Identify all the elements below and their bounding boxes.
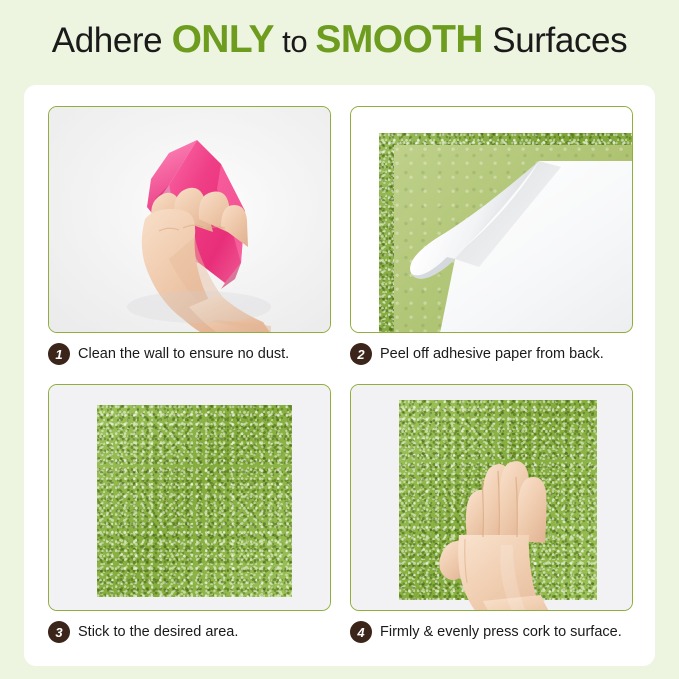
step-2-panel <box>350 106 633 333</box>
page-title: Adhere ONLY to SMOOTH Surfaces <box>0 18 679 64</box>
title-part-adhere: Adhere <box>52 21 172 60</box>
little-finger-4 <box>517 477 547 543</box>
cork-square-3 <box>97 405 292 597</box>
hand-wiping-wall-illustration <box>49 107 331 333</box>
steps-grid: 1 Clean the wall to ensure no dust. <box>24 106 655 654</box>
step-3-badge: 3 <box>48 621 70 643</box>
step-1: 1 Clean the wall to ensure no dust. <box>48 106 333 366</box>
step-3: 3 Stick to the desired area. <box>48 384 333 644</box>
title-part-surfaces: Surfaces <box>483 21 627 60</box>
step-3-panel <box>48 384 331 611</box>
step-1-caption: 1 Clean the wall to ensure no dust. <box>48 342 333 366</box>
step-1-badge: 1 <box>48 343 70 365</box>
step-1-caption-text: Clean the wall to ensure no dust. <box>78 346 289 362</box>
peeling-white-paper-illustration <box>351 107 633 333</box>
step-4-caption-text: Firmly & evenly press cork to surface. <box>380 624 622 640</box>
pressing-hand-illustration <box>351 385 633 611</box>
step-4-panel <box>350 384 633 611</box>
step-2-caption: 2 Peel off adhesive paper from back. <box>350 342 635 366</box>
step-4: 4 Firmly & evenly press cork to surface. <box>350 384 635 644</box>
step-3-caption-text: Stick to the desired area. <box>78 624 238 640</box>
title-part-only: ONLY <box>172 18 274 61</box>
hand-shadow <box>127 291 271 323</box>
step-2-caption-text: Peel off adhesive paper from back. <box>380 346 604 362</box>
step-3-caption: 3 Stick to the desired area. <box>48 620 333 644</box>
title-part-smooth: SMOOTH <box>315 18 483 61</box>
step-2: 2 Peel off adhesive paper from back. <box>350 106 635 366</box>
step-1-panel <box>48 106 331 333</box>
step-4-badge: 4 <box>350 621 372 643</box>
step-2-badge: 2 <box>350 343 372 365</box>
instruction-graphic: Adhere ONLY to SMOOTH Surfaces <box>0 0 679 679</box>
title-part-to: to <box>274 24 315 59</box>
step-4-caption: 4 Firmly & evenly press cork to surface. <box>350 620 635 644</box>
